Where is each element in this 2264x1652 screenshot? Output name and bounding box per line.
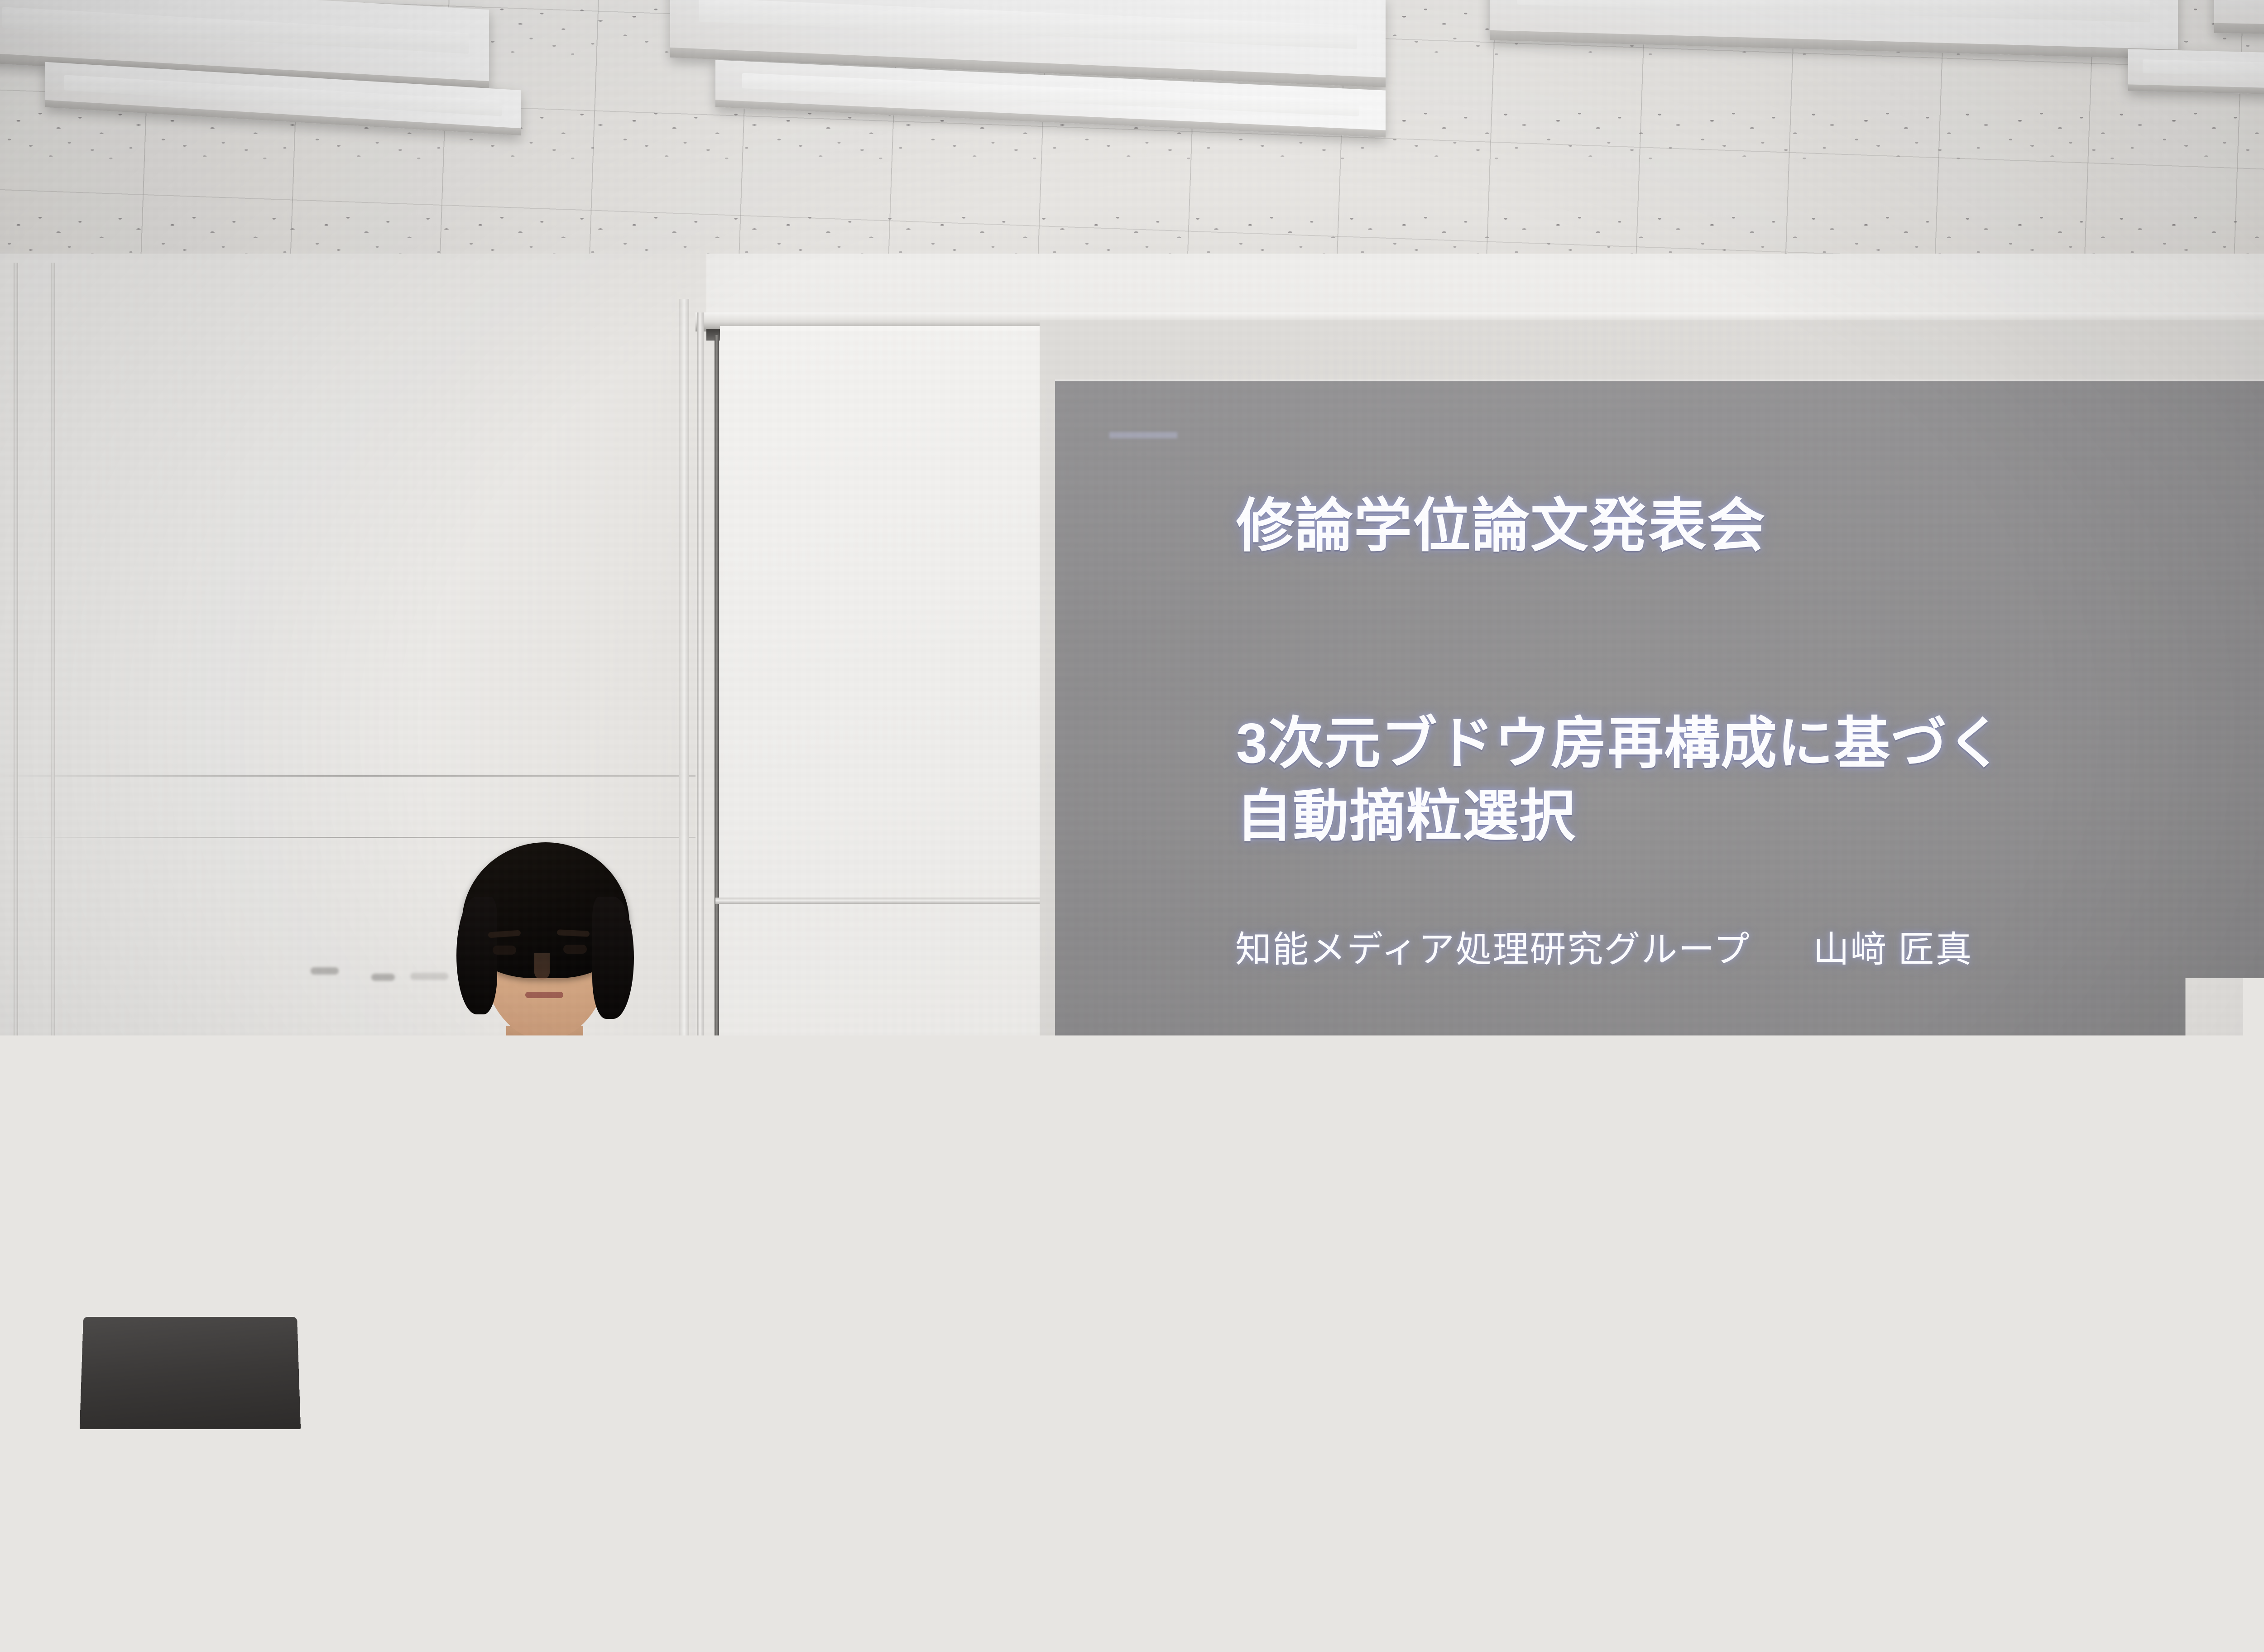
podium-front-panel (1331, 1563, 1603, 1652)
telephone-handset (51, 1218, 88, 1318)
whiteboard-eraser (960, 1494, 1014, 1513)
slide-title-line-2: 自動摘粒選択 (1236, 780, 2004, 853)
slide-title: 3次元ブドウ房再構成に基づく 自動摘粒選択 (1236, 707, 2004, 853)
presenter-eye-right (563, 945, 587, 954)
wall-panel-seam (0, 837, 706, 838)
presenter-eye-left (493, 946, 516, 955)
telephone-cord (62, 1309, 80, 1413)
slide-header-text: 修論学位論文発表会 (1236, 495, 1766, 558)
photograph-scene: 修論学位論文発表会 3次元ブドウ房再構成に基づく 自動摘粒選択 知能メディア処理… (0, 0, 2264, 1652)
slide-author-name: 山﨑 匠真 (1813, 929, 1972, 970)
podium-front-panel (1041, 1563, 1313, 1652)
presenter-hair-right (592, 897, 634, 1019)
presenter-hair-left (456, 897, 497, 1014)
slide-title-line-1: 3次元ブドウ房再構成に基づく (1236, 707, 2004, 780)
audience-shoulder-bottom-left (0, 1553, 163, 1652)
slide-text-block: 修論学位論文発表会 3次元ブドウ房再構成に基づく 自動摘粒選択 知能メディア処理… (1055, 381, 2264, 1490)
whiteboard-residual-mark (311, 967, 339, 975)
slide-author-line: 知能メディア処理研究グループ 山﨑 匠真 (1235, 920, 1972, 973)
whiteboard-panel-divider (715, 898, 1069, 904)
podium-countertop (665, 1513, 1747, 1544)
desk-device-box (0, 1386, 59, 1413)
presenter-mouth (525, 992, 563, 998)
slide-affiliation: 知能メディア処理研究グループ (1235, 929, 1751, 970)
audience-head (1757, 1440, 2074, 1652)
podium-front-panel (770, 1563, 1023, 1652)
wall-panel-seam (0, 775, 706, 777)
projected-slide: 修論学位論文発表会 3次元ブドウ房再構成に基づく 自動摘粒選択 知能メディア処理… (1055, 381, 2264, 1490)
telephone-label-window (91, 1229, 154, 1244)
telephone-keypad[interactable] (90, 1259, 158, 1310)
presenter-remote-clicker[interactable] (494, 1378, 514, 1407)
audience-person-front-right (1757, 1440, 2110, 1652)
whiteboard-left-panel (720, 326, 1060, 1458)
presenter-nose (534, 953, 550, 980)
presenter-necktie-knot (524, 1068, 565, 1100)
